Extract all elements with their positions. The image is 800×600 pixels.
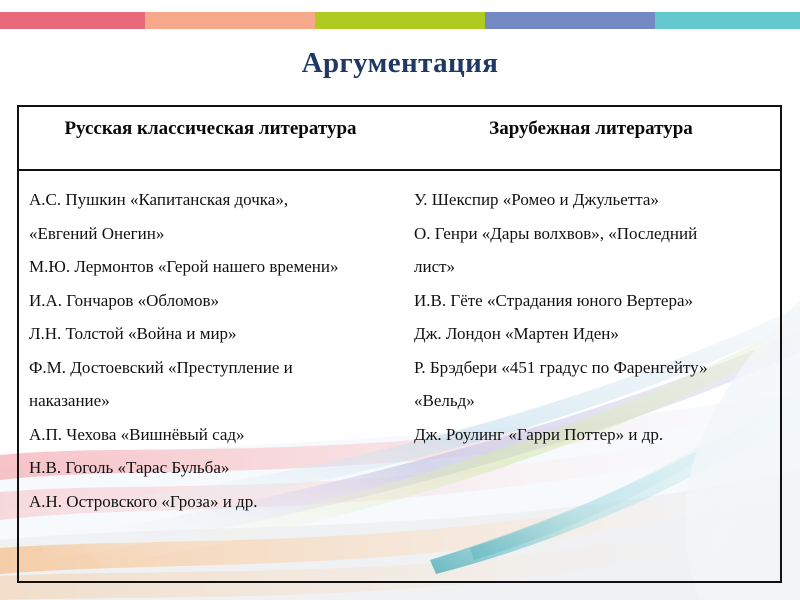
- list-item: Н.В. Гоголь «Тарас Бульба»: [29, 451, 396, 485]
- list-item: А.П. Чехова «Вишнёвый сад»: [29, 418, 396, 452]
- arguments-table: Русская классическая литература Зарубежн…: [17, 105, 782, 583]
- table-header-row: Русская классическая литература Зарубежн…: [19, 107, 780, 170]
- list-item: лист»: [414, 250, 774, 284]
- table-body-cell-russian: А.С. Пушкин «Капитанская дочка», «Евгени…: [19, 170, 402, 581]
- list-item: наказание»: [29, 384, 396, 418]
- list-item: Ф.М. Достоевский «Преступление и: [29, 351, 396, 385]
- table-header-cell-russian: Русская классическая литература: [19, 107, 402, 170]
- table-header-cell-foreign: Зарубежная литература: [402, 107, 780, 170]
- list-item: А.Н. Островского «Гроза» и др.: [29, 485, 396, 519]
- table: Русская классическая литература Зарубежн…: [19, 107, 780, 581]
- top-color-strip: [0, 12, 800, 29]
- page-title: Аргументация: [0, 47, 800, 80]
- list-item: У. Шекспир «Ромео и Джульетта»: [414, 183, 774, 217]
- table-body-row: А.С. Пушкин «Капитанская дочка», «Евгени…: [19, 170, 780, 581]
- color-segment-peach: [145, 12, 315, 29]
- list-item: Дж. Лондон «Мартен Иден»: [414, 317, 774, 351]
- russian-literature-list: А.С. Пушкин «Капитанская дочка», «Евгени…: [19, 171, 402, 524]
- color-segment-blue-violet: [485, 12, 655, 29]
- list-item: И.А. Гончаров «Обломов»: [29, 284, 396, 318]
- column-header-label-russian: Русская классическая литература: [19, 107, 402, 140]
- list-item: «Вельд»: [414, 384, 774, 418]
- table-body-cell-foreign: У. Шекспир «Ромео и Джульетта» О. Генри …: [402, 170, 780, 581]
- list-item: А.С. Пушкин «Капитанская дочка»,: [29, 183, 396, 217]
- list-item: О. Генри «Дары волхвов», «Последний: [414, 217, 774, 251]
- column-header-label-foreign: Зарубежная литература: [402, 107, 780, 140]
- foreign-literature-list: У. Шекспир «Ромео и Джульетта» О. Генри …: [402, 171, 780, 457]
- color-segment-yellow-green: [315, 12, 485, 29]
- list-item: Дж. Роулинг «Гарри Поттер» и др.: [414, 418, 774, 452]
- slide-canvas: Аргументация Русская классическая литера…: [0, 0, 800, 600]
- color-segment-teal: [655, 12, 800, 29]
- list-item: «Евгений Онегин»: [29, 217, 396, 251]
- color-segment-coral: [0, 12, 145, 29]
- list-item: Л.Н. Толстой «Война и мир»: [29, 317, 396, 351]
- list-item: М.Ю. Лермонтов «Герой нашего времени»: [29, 250, 396, 284]
- list-item: И.В. Гёте «Страдания юного Вертера»: [414, 284, 774, 318]
- list-item: Р. Брэдбери «451 градус по Фаренгейту»: [414, 351, 774, 385]
